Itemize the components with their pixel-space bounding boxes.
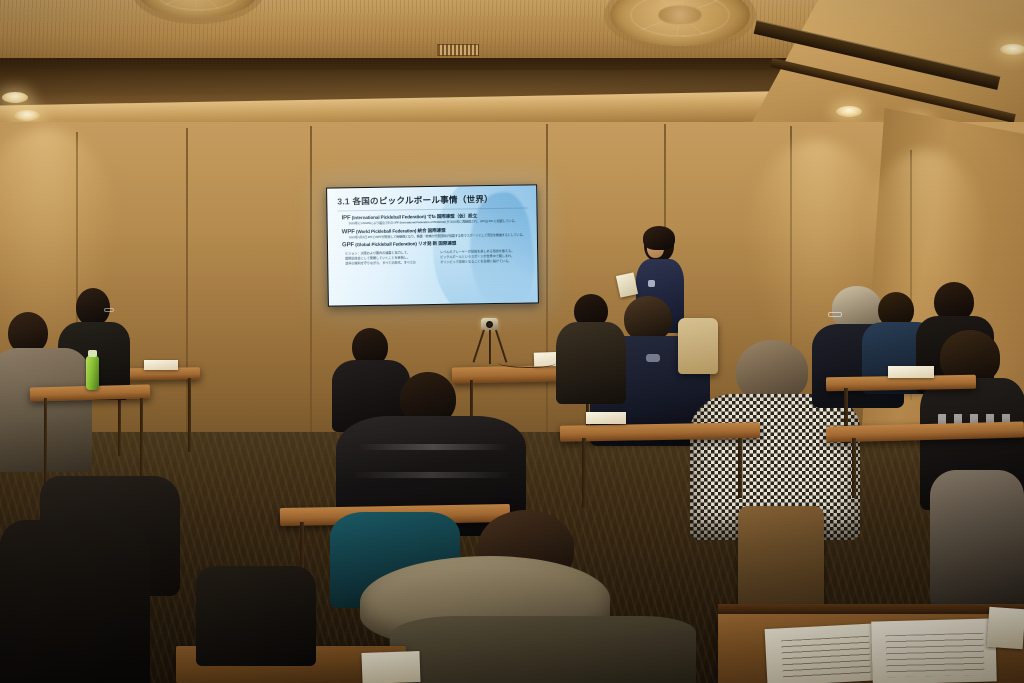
collar-logo [646,354,660,362]
slide-title: 3.1 各国のピックルボール事情（世界） [337,192,528,207]
federation-name: (World Pickleball Federation) [356,228,416,234]
projection-screen: 3.1 各国のピックルボール事情（世界） IPF (International … [326,184,539,306]
puffer-sheen [358,444,508,450]
photo-scene: 3.1 各国のピックルボール事情（世界） IPF (International … [0,0,1024,683]
medallion-spokes [155,0,241,11]
backpack-right [930,470,1024,610]
bag-left-lower [0,520,150,683]
tripod-leg [489,330,491,364]
handout-extra [987,607,1024,649]
slide-vision-text: ビジョン：大陸および国内の連盟と協力して、 国際競技会として発展していくことを目… [345,249,529,266]
table-leg [738,438,742,498]
table-leg [582,438,586,508]
chair-right [738,506,824,616]
vision-line: オリンピック競技となることを目標に掲げている。 [440,258,529,264]
slide-federation-ipf: IPF (International Pickleball Federation… [342,212,529,226]
tea-bottle-cap [88,350,97,357]
table-leg [852,438,856,498]
table-leg [44,398,47,488]
attendee-center-dark [556,294,626,404]
attendee-torso [556,322,626,404]
table-leg [140,398,143,484]
tripod-leg [473,330,485,363]
federation-tagline: 統合 国際連盟 [417,227,445,232]
slide-title-rule [337,207,528,211]
federation-heading: GPF (Global Pickleball Federation) リオ発 新… [342,240,529,249]
presenter-hair [643,226,675,250]
puffer-sheen [352,472,512,478]
vision-line: 選手の権利を守りながら、すべての年代、すべての [345,260,434,266]
medallion-hub [658,5,703,25]
attendee-head-gray [736,340,808,402]
handout [888,366,934,378]
handout-text-lines [885,633,984,678]
slide-surface: 3.1 各国のピックルボール事情（世界） IPF (International … [327,185,538,305]
wall-seam [310,126,312,456]
bag-foreground-left [196,566,316,666]
attendee-hoodie-body [390,616,696,683]
federation-name: (Global Pickleball Federation) [355,242,417,248]
handout-text-lines [781,636,871,679]
table-edge [718,604,1024,614]
table-leg [188,378,191,452]
slide-federation-gpf: GPF (Global Pickleball Federation) リオ発 新… [342,240,529,249]
handout-foreground-left [361,651,420,683]
downlight-icon [14,110,40,121]
downlight-icon [1000,44,1024,55]
downlight-icon [836,106,862,117]
presenter-chest-logo [648,280,655,287]
federation-tagline: リオ発 新 国際連盟 [418,241,456,247]
tea-bottle [86,356,99,390]
handout [586,412,626,424]
downlight-icon [2,92,28,103]
ceiling-air-grille [437,44,479,56]
federation-abbr: GPF [342,243,354,249]
handout [144,360,178,370]
eyeglasses-icon [828,312,842,317]
wall-seam [546,124,548,454]
eyeglasses-icon [104,308,114,312]
camera-lens-icon [486,321,493,328]
slide-federation-wpf: WPF (World Pickleball Federation) 統合 国際連… [342,226,529,240]
federation-tagline: でfa 国際連盟（仮）設立 [427,213,477,219]
